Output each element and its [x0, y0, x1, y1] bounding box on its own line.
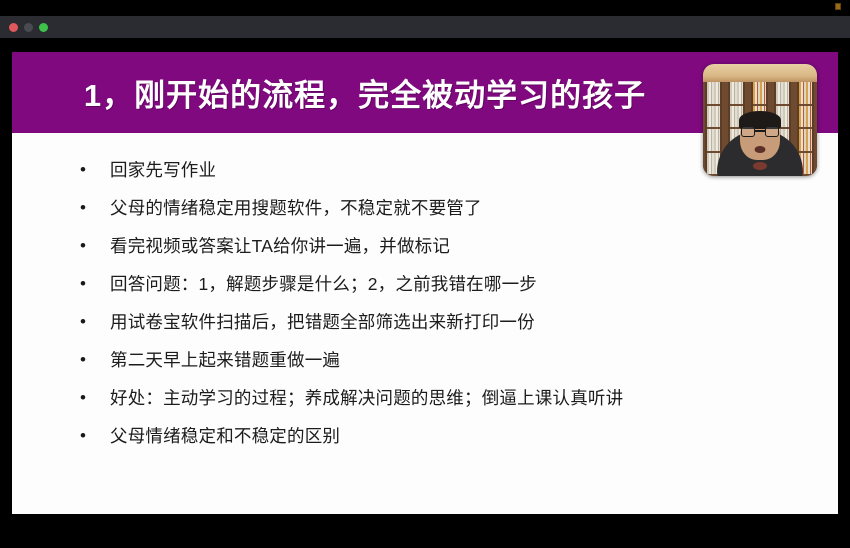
- recording-indicator-icon: [835, 3, 841, 10]
- list-item: • 用试卷宝软件扫描后，把错题全部筛选出来新打印一份: [12, 309, 838, 347]
- slide-body: • 回家先写作业 • 父母的情绪稳定用搜题软件，不稳定就不要管了 • 看完视频或…: [12, 133, 838, 514]
- close-button[interactable]: [9, 23, 18, 32]
- list-item: • 第二天早上起来错题重做一遍: [12, 347, 838, 385]
- webcam-ceiling: [703, 64, 817, 84]
- list-item-label: 父母的情绪稳定用搜题软件，不稳定就不要管了: [110, 195, 482, 221]
- presentation-slide: 1，刚开始的流程，完全被动学习的孩子: [12, 52, 838, 514]
- list-item-label: 回家先写作业: [110, 157, 216, 183]
- bullet-icon: •: [80, 233, 110, 259]
- list-item-label: 用试卷宝软件扫描后，把错题全部筛选出来新打印一份: [110, 309, 535, 335]
- bullet-icon: •: [80, 271, 110, 297]
- bullet-icon: •: [80, 195, 110, 221]
- list-item-label: 父母情绪稳定和不稳定的区别: [110, 423, 340, 449]
- list-item: • 回答问题：1，解题步骤是什么；2，之前我错在哪一步: [12, 271, 838, 309]
- bullet-list: • 回家先写作业 • 父母的情绪稳定用搜题软件，不稳定就不要管了 • 看完视频或…: [12, 157, 838, 461]
- bullet-icon: •: [80, 157, 110, 183]
- app-window: 1，刚开始的流程，完全被动学习的孩子: [0, 0, 850, 548]
- list-item-label: 第二天早上起来错题重做一遍: [110, 347, 340, 373]
- list-item-label: 好处：主动学习的过程；养成解决问题的思维；倒逼上课认真听讲: [110, 385, 623, 411]
- list-item: • 好处：主动学习的过程；养成解决问题的思维；倒逼上课认真听讲: [12, 385, 838, 423]
- bullet-icon: •: [80, 423, 110, 449]
- bullet-icon: •: [80, 347, 110, 373]
- list-item: • 看完视频或答案让TA给你讲一遍，并做标记: [12, 233, 838, 271]
- list-item-label: 回答问题：1，解题步骤是什么；2，之前我错在哪一步: [110, 271, 537, 297]
- list-item: • 父母的情绪稳定用搜题软件，不稳定就不要管了: [12, 195, 838, 233]
- slide-header-band: 1，刚开始的流程，完全被动学习的孩子: [12, 52, 838, 133]
- window-titlebar[interactable]: [0, 16, 850, 38]
- slide-title: 1，刚开始的流程，完全被动学习的孩子: [84, 70, 646, 115]
- list-item: • 父母情绪稳定和不稳定的区别: [12, 423, 838, 461]
- list-item-label: 看完视频或答案让TA给你讲一遍，并做标记: [110, 233, 450, 259]
- bullet-icon: •: [80, 309, 110, 335]
- maximize-button[interactable]: [39, 23, 48, 32]
- list-item: • 回家先写作业: [12, 157, 838, 195]
- window-controls: [9, 23, 48, 32]
- bullet-icon: •: [80, 385, 110, 411]
- minimize-button[interactable]: [24, 23, 33, 32]
